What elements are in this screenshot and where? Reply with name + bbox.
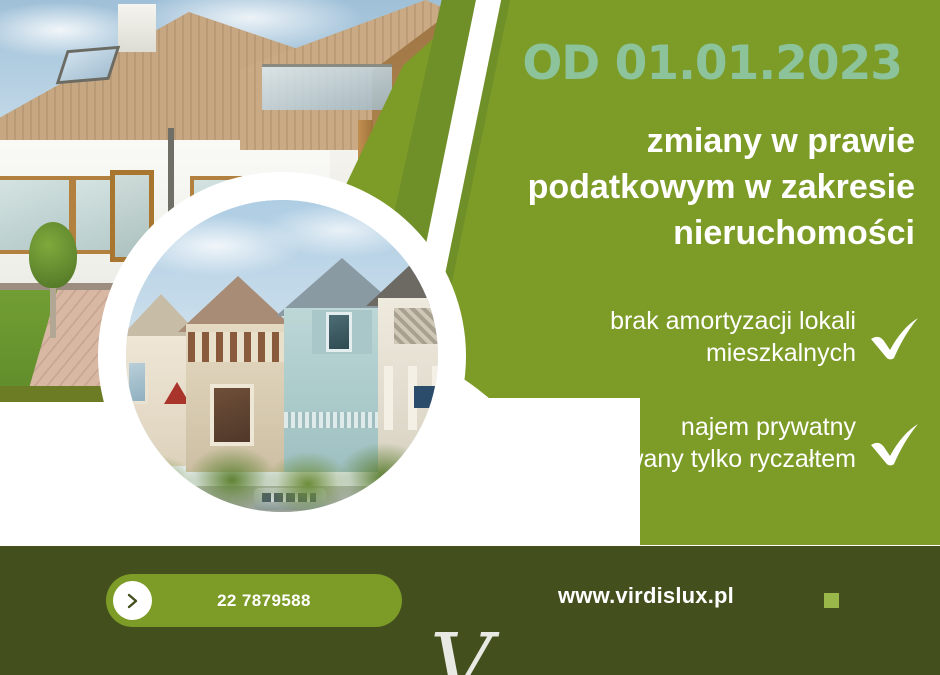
footer-bar: V 22 7879588 www.virdislux.pl [0,546,940,675]
phone-button[interactable]: 22 7879588 [106,574,402,627]
sapling-crown [29,222,77,288]
subheadline-line-3: nieruchomości [355,210,915,256]
chevron-right-icon[interactable] [113,581,152,620]
chimney [118,4,156,52]
page-subheadline: zmiany w prawie podatkowym w zakresie ni… [355,118,915,257]
benefit-2-line-1: najem prywatny [523,411,856,443]
website-url[interactable]: www.virdislux.pl [558,583,734,609]
benefit-text: brak amortyzacji lokali mieszkalnych [610,305,856,369]
benefit-2-line-2: opodatkowany tylko ryczałtem [523,443,856,475]
page-headline: OD 01.01.2023 [522,36,902,91]
benefit-1-line-2: mieszkalnych [610,337,856,369]
benefit-1-line-1: brak amortyzacji lokali [610,305,856,337]
accent-square [824,593,839,608]
benefit-item: najem prywatny opodatkowany tylko ryczał… [362,411,922,475]
benefit-item: brak amortyzacji lokali mieszkalnych [362,305,922,369]
victorian-window [126,360,148,404]
subheadline-line-1: zmiany w prawie [355,118,915,164]
olive-tab [0,386,116,402]
checkmark-icon [868,419,922,467]
victorian-trim [188,332,292,362]
poster-canvas: OD 01.01.2023 zmiany w prawie podatkowym… [0,0,940,675]
brand-script-logo: V [430,623,492,675]
sapling-trunk [50,286,56,338]
subheadline-line-2: podatkowym w zakresie [355,164,915,210]
benefit-list: brak amortyzacji lokali mieszkalnych naj… [362,305,922,517]
benefit-text: najem prywatny opodatkowany tylko ryczał… [523,411,856,475]
victorian-window [326,312,352,352]
chevron-right-glyph [126,593,140,609]
checkmark-icon [868,313,922,361]
balcony-glass [262,64,392,110]
phone-number: 22 7879588 [152,591,402,611]
